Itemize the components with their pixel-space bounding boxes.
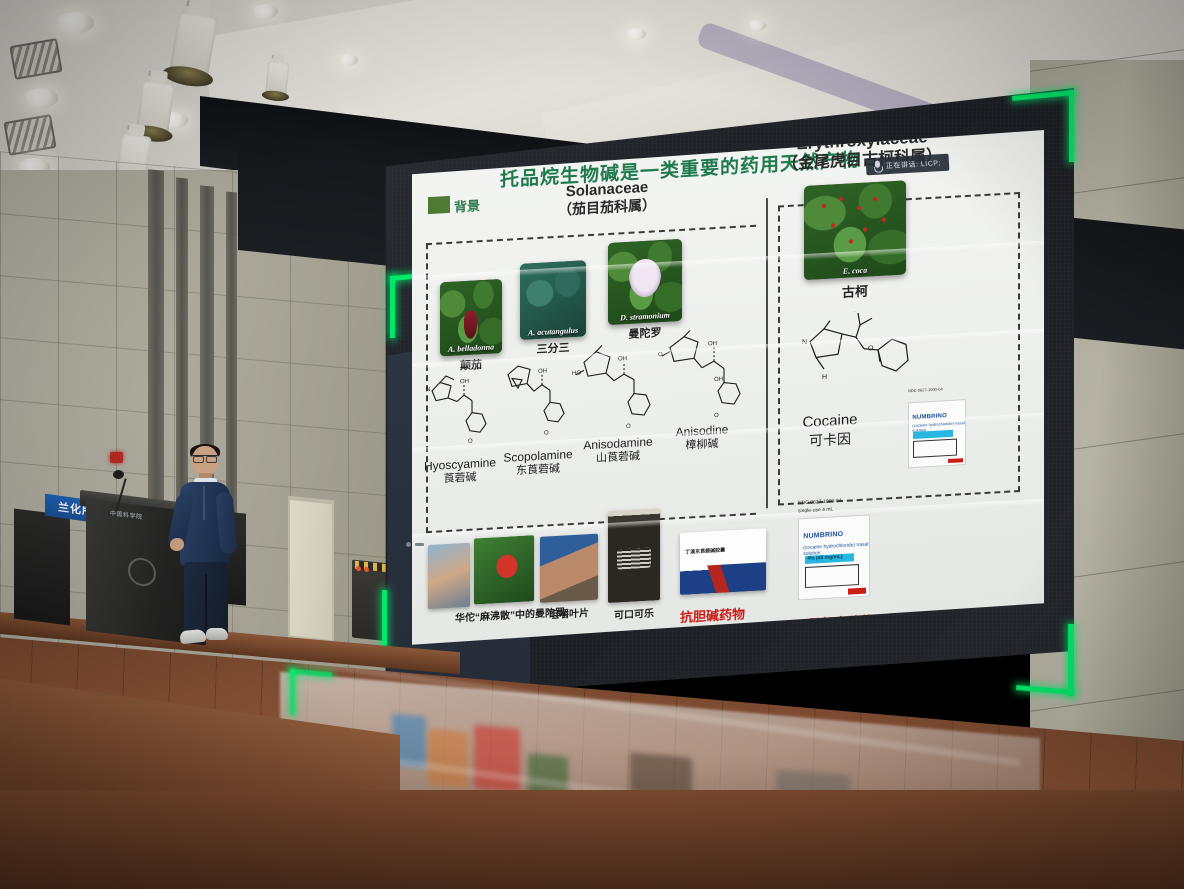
svg-text:O: O (626, 424, 631, 430)
speaking-status-label: 正在讲话: LICP; (886, 158, 941, 171)
corner-bracket-top-right (1069, 90, 1074, 162)
pa-speaker-left (14, 509, 70, 626)
svg-text:H: H (822, 374, 827, 381)
photo-datura-flower (474, 535, 534, 604)
downlight (56, 12, 94, 34)
compound-scopolamine: Scopolamine 东莨菪碱 (496, 447, 580, 480)
wall-pillar (148, 169, 164, 550)
section-tag-label: 背景 (454, 195, 480, 215)
presenter-leg-separator (205, 574, 207, 632)
structure-cocaine: N O O H (794, 308, 918, 425)
compound-hyoscyamine: Hyoscyamine 莨菪碱 (418, 455, 502, 488)
numbrino-warning-box (913, 439, 957, 458)
compound-anisodamine: Anisodamine 山莨菪碱 (574, 434, 662, 468)
floor-reflection-patch (474, 725, 520, 793)
glasses-icon (193, 455, 217, 460)
svg-text:OH: OH (460, 379, 469, 385)
medbox-label-cn: 丁溴东莨菪碱胶囊 (685, 547, 725, 556)
photo-anticholinergic-box: 丁溴东莨菪碱胶囊 (680, 528, 766, 595)
svg-text:OH: OH (538, 368, 547, 374)
svg-text:OH: OH (708, 341, 717, 347)
svg-text:O: O (544, 430, 549, 436)
medbox-graphic: 丁溴东莨菪碱胶囊 (680, 528, 766, 595)
corner-bracket-left-upper (390, 276, 395, 338)
numbrino-warning-box (805, 564, 860, 588)
emergency-light (110, 452, 123, 463)
caption-chewing: 咀嚼叶片 (538, 603, 600, 621)
floor-reflection-patch (428, 729, 468, 788)
microphone-icon (874, 160, 882, 171)
presenter-shoe (206, 628, 228, 640)
downlight (626, 28, 646, 40)
presenter-jacket-zip (203, 486, 205, 520)
numbrino-footer-bar (948, 458, 963, 463)
svg-text:N: N (426, 387, 430, 393)
structure-scopolamine: OH O (498, 353, 572, 441)
svg-text:O: O (714, 413, 719, 419)
floor-reflected-bracket (290, 669, 295, 715)
numbrino-footer-bar (848, 588, 866, 595)
structure-anisodamine: HO OH O (572, 338, 654, 435)
numbrino-package-small: NUMBRINO (cocaine hydrochloride) nasal s… (908, 399, 966, 468)
svg-text:HO: HO (572, 371, 581, 378)
photo-chewing-leaves (540, 534, 598, 603)
lecture-hall-photo: 第二届生物合成论坛 仪器信息网 托品烷生物碱是一类重要的药用天然产物 背景 So… (0, 0, 1184, 889)
photo-coca-cola-bottle (608, 508, 660, 603)
podium-microphone-icon (113, 470, 124, 479)
compound-anisodine: Anisodine 樟柳碱 (660, 421, 744, 454)
presenter-hand (170, 538, 184, 551)
plant-photo-coca: E. coca (804, 180, 906, 280)
downlight (748, 20, 766, 31)
caption-coca-cola: 可口可乐 (606, 604, 662, 622)
numbrino-brand: NUMBRINO (803, 531, 843, 540)
stage-spotlight (265, 61, 289, 95)
numbrino-strength-band (913, 430, 952, 439)
plant-photo-acutangulus: A. acutangulus (520, 260, 586, 340)
coke-bottle-graphic (608, 508, 660, 603)
red-label-anticholinergic: 抗胆碱药物 (680, 603, 745, 626)
plant-photo-belladonna: A. belladonna (440, 279, 502, 356)
screen-os-indicator (406, 542, 424, 547)
plant-photo-stramonium: D. stramonium (608, 239, 682, 325)
svg-text:OH: OH (714, 377, 723, 383)
presenter-shoe (179, 629, 206, 645)
corner-bracket-bottom-right (1068, 624, 1074, 696)
downlight (252, 4, 278, 19)
svg-text:OH: OH (618, 356, 627, 362)
svg-text:O: O (658, 352, 663, 358)
numbrino-ndc-large: NDC 0627-1000-04 (798, 498, 841, 506)
structure-hyoscyamine: N OH O (424, 367, 494, 449)
structure-anisodine: O OH OH O (656, 324, 742, 425)
svg-text:O: O (868, 345, 874, 352)
section-divider (766, 198, 768, 508)
downlight (338, 54, 358, 66)
section-tag-block (428, 196, 450, 214)
foreground-floor (0, 790, 1184, 889)
downlight (24, 88, 58, 108)
hall-door[interactable] (288, 496, 334, 643)
photo-huatuo (428, 543, 470, 609)
corner-bracket-bottom-right (1016, 685, 1074, 695)
family-solanaceae: Solanaceae （茄目茄科属） (558, 178, 656, 218)
numbrino-brand: NUMBRINO (912, 413, 947, 421)
compound-cocaine: Cocaine 可卡因 (784, 410, 876, 451)
numbrino-package-large: NUMBRINO (cocaine hydrochloride) nasal s… (798, 514, 870, 600)
presentation-slide: 第二届生物合成论坛 仪器信息网 托品烷生物碱是一类重要的药用天然产物 背景 So… (412, 130, 1044, 650)
led-video-wall: 第二届生物合成论坛 仪器信息网 托品烷生物碱是一类重要的药用天然产物 背景 So… (368, 88, 1074, 700)
numbrino-volume: single-use 4 mL (798, 506, 833, 514)
svg-text:O: O (468, 439, 473, 445)
presenter (166, 446, 240, 644)
svg-text:N: N (802, 339, 807, 346)
